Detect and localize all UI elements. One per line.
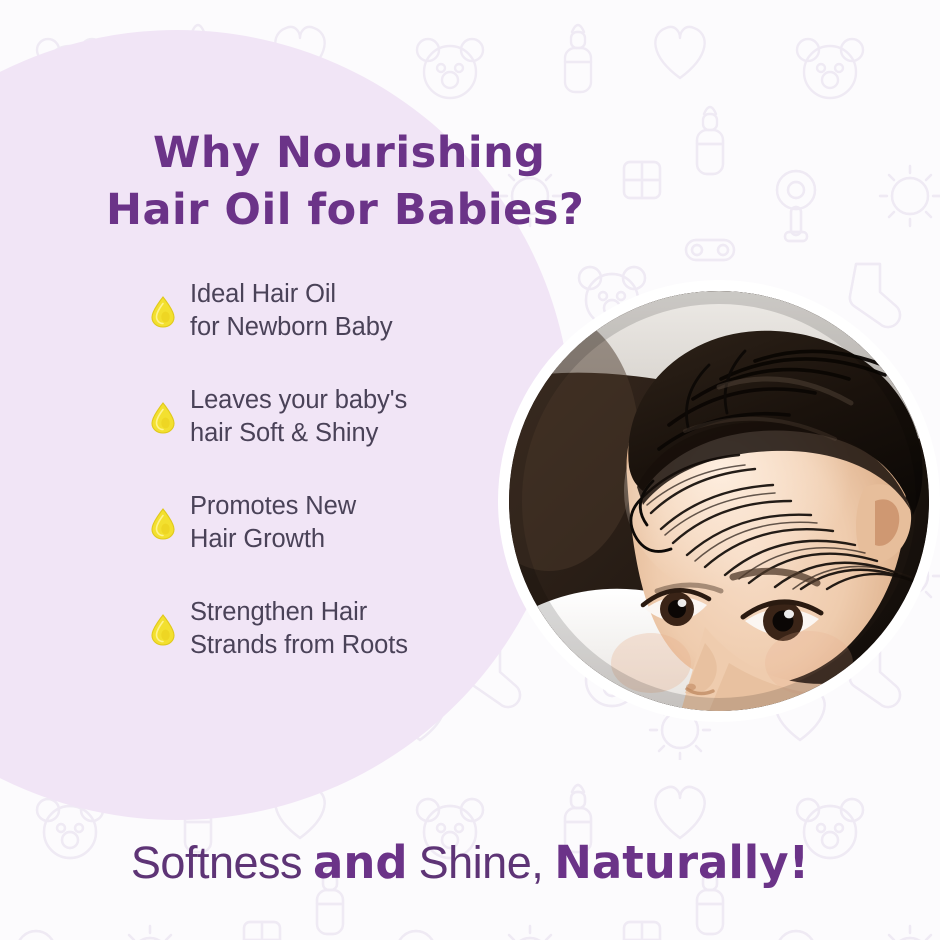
list-item: Strengthen Hair Strands from Roots	[150, 586, 495, 672]
tagline-part-4: Naturally!	[554, 836, 809, 889]
oil-drop-icon	[150, 296, 176, 328]
tagline: Softness and Shine, Naturally!	[0, 836, 940, 889]
list-item-line-1: Leaves your baby's	[190, 384, 407, 417]
page-title: Why Nourishing Hair Oil for Babies?	[106, 125, 626, 239]
list-item-text: Promotes New Hair Growth	[190, 490, 356, 556]
list-item: Leaves your baby's hair Soft & Shiny	[150, 374, 495, 460]
photo-clip	[509, 291, 929, 711]
list-item-line-2: for Newborn Baby	[190, 311, 393, 344]
list-item-line-1: Strengthen Hair	[190, 596, 408, 629]
oil-drop-icon	[150, 402, 176, 434]
tagline-part-2: and	[313, 836, 408, 889]
benefit-list: Ideal Hair Oil for Newborn Baby Leaves y…	[150, 268, 495, 672]
list-item-line-2: hair Soft & Shiny	[190, 417, 407, 450]
baby-photo	[498, 280, 940, 722]
tagline-part-3: Shine,	[419, 837, 544, 888]
list-item-line-1: Promotes New	[190, 490, 356, 523]
list-item: Promotes New Hair Growth	[150, 480, 495, 566]
list-item-line-2: Strands from Roots	[190, 629, 408, 662]
list-item-text: Ideal Hair Oil for Newborn Baby	[190, 278, 393, 344]
list-item: Ideal Hair Oil for Newborn Baby	[150, 268, 495, 354]
list-item-text: Leaves your baby's hair Soft & Shiny	[190, 384, 407, 450]
list-item-line-2: Hair Growth	[190, 523, 356, 556]
list-item-text: Strengthen Hair Strands from Roots	[190, 596, 408, 662]
oil-drop-icon	[150, 508, 176, 540]
page-title-line-1: Why Nourishing	[106, 125, 626, 182]
tagline-part-1: Softness	[131, 837, 302, 888]
page-title-line-2: Hair Oil for Babies?	[106, 182, 626, 239]
promo-poster: Why Nourishing Hair Oil for Babies? Idea…	[0, 0, 940, 940]
baby-photo-illustration	[509, 291, 929, 711]
oil-drop-icon	[150, 614, 176, 646]
list-item-line-1: Ideal Hair Oil	[190, 278, 393, 311]
